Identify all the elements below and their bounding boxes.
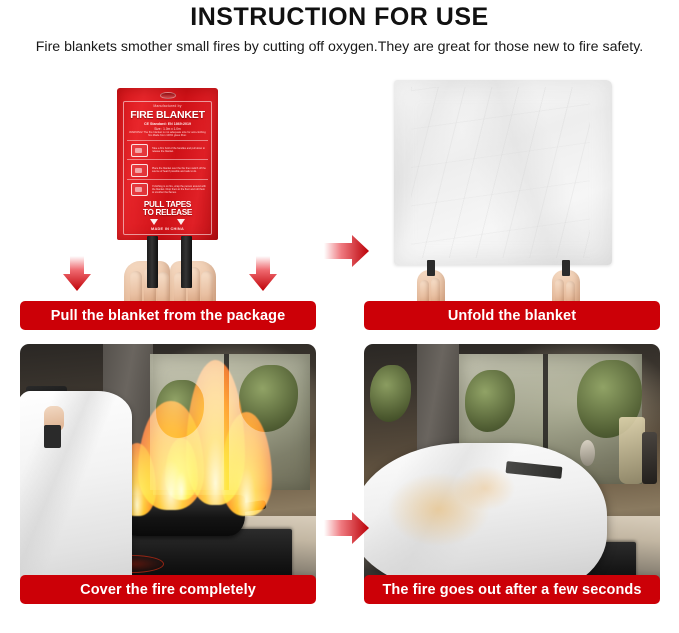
package-step-text: If clothing is on fire, wrap the person … (152, 185, 207, 194)
bottle (642, 432, 657, 484)
package-step-icon (128, 181, 150, 198)
package-step-text: Place the blanket over the fire then swi… (152, 167, 207, 173)
step-4-illustration (364, 344, 660, 604)
step-4-caption: The fire goes out after a few seconds (364, 575, 660, 604)
package-instruction-row: If clothing is on fire, wrap the person … (127, 180, 208, 199)
fire-blanket-package: Manufactured by FIRE BLANKET CE Standard… (117, 88, 218, 240)
held-fire-blanket (20, 391, 132, 599)
blanket-tab-right (562, 260, 570, 276)
step-1-caption: Pull the blanket from the package (20, 301, 316, 330)
blanket-tab-left (427, 260, 435, 276)
kitchen-scene (364, 344, 660, 604)
step-panel-3: Cover the fire completely (20, 344, 316, 604)
package-arrow-row (127, 219, 208, 225)
release-tape-left (147, 236, 158, 288)
package-instruction-row: Take a firm hold of the handles and pull… (127, 141, 208, 161)
faucet (580, 440, 595, 466)
down-arrow-icon-right (248, 256, 278, 292)
page-title: INSTRUCTION FOR USE (0, 2, 679, 32)
step-2-caption: Unfold the blanket (364, 301, 660, 330)
step-panel-1: Manufactured by FIRE BLANKET CE Standard… (20, 68, 316, 330)
instruction-header: INSTRUCTION FOR USE Fire blankets smothe… (0, 0, 679, 56)
unfolded-fire-blanket (394, 80, 612, 265)
down-arrow-icon (177, 219, 185, 225)
package-size: Size : 1.0m x 1.0m (127, 127, 208, 131)
step-3-caption: Cover the fire completely (20, 575, 316, 604)
package-pull-tapes-line-2: TO RELEASE (127, 209, 208, 218)
package-instruction-row: Place the blanket over the fire then swi… (127, 160, 208, 180)
release-tape-right (181, 236, 192, 288)
plant-icon (370, 365, 411, 422)
down-arrow-icon (150, 219, 158, 225)
step-panel-4: The fire goes out after a few seconds (364, 344, 660, 604)
instruction-step-grid: Manufactured by FIRE BLANKET CE Standard… (0, 56, 679, 616)
kitchen-scene (20, 344, 316, 604)
page-subtitle: Fire blankets smother small fires by cut… (2, 38, 677, 56)
flow-arrow-step3-to-step4 (324, 511, 370, 545)
vase (619, 417, 646, 485)
step-2-illustration (364, 68, 660, 330)
package-hang-hole (160, 92, 176, 99)
down-arrow-icon-left (62, 256, 92, 292)
package-step-text: Take a firm hold of the handles and pull… (152, 147, 207, 153)
flow-arrow-step1-to-step2 (324, 234, 370, 268)
package-warning: WARNING! The fire blanket is not adequat… (127, 131, 208, 138)
step-1-illustration: Manufactured by FIRE BLANKET CE Standard… (20, 68, 316, 330)
package-title: FIRE BLANKET (127, 109, 208, 121)
draped-fire-blanket (364, 443, 607, 594)
step-3-illustration (20, 344, 316, 604)
package-origin: MADE IN CHINA (127, 227, 208, 232)
step-panel-2: Unfold the blanket (364, 68, 660, 330)
package-step-icon (128, 161, 150, 178)
package-brand-line: Manufactured by (127, 104, 208, 109)
package-step-icon (128, 142, 150, 159)
blanket-tab (44, 425, 62, 448)
